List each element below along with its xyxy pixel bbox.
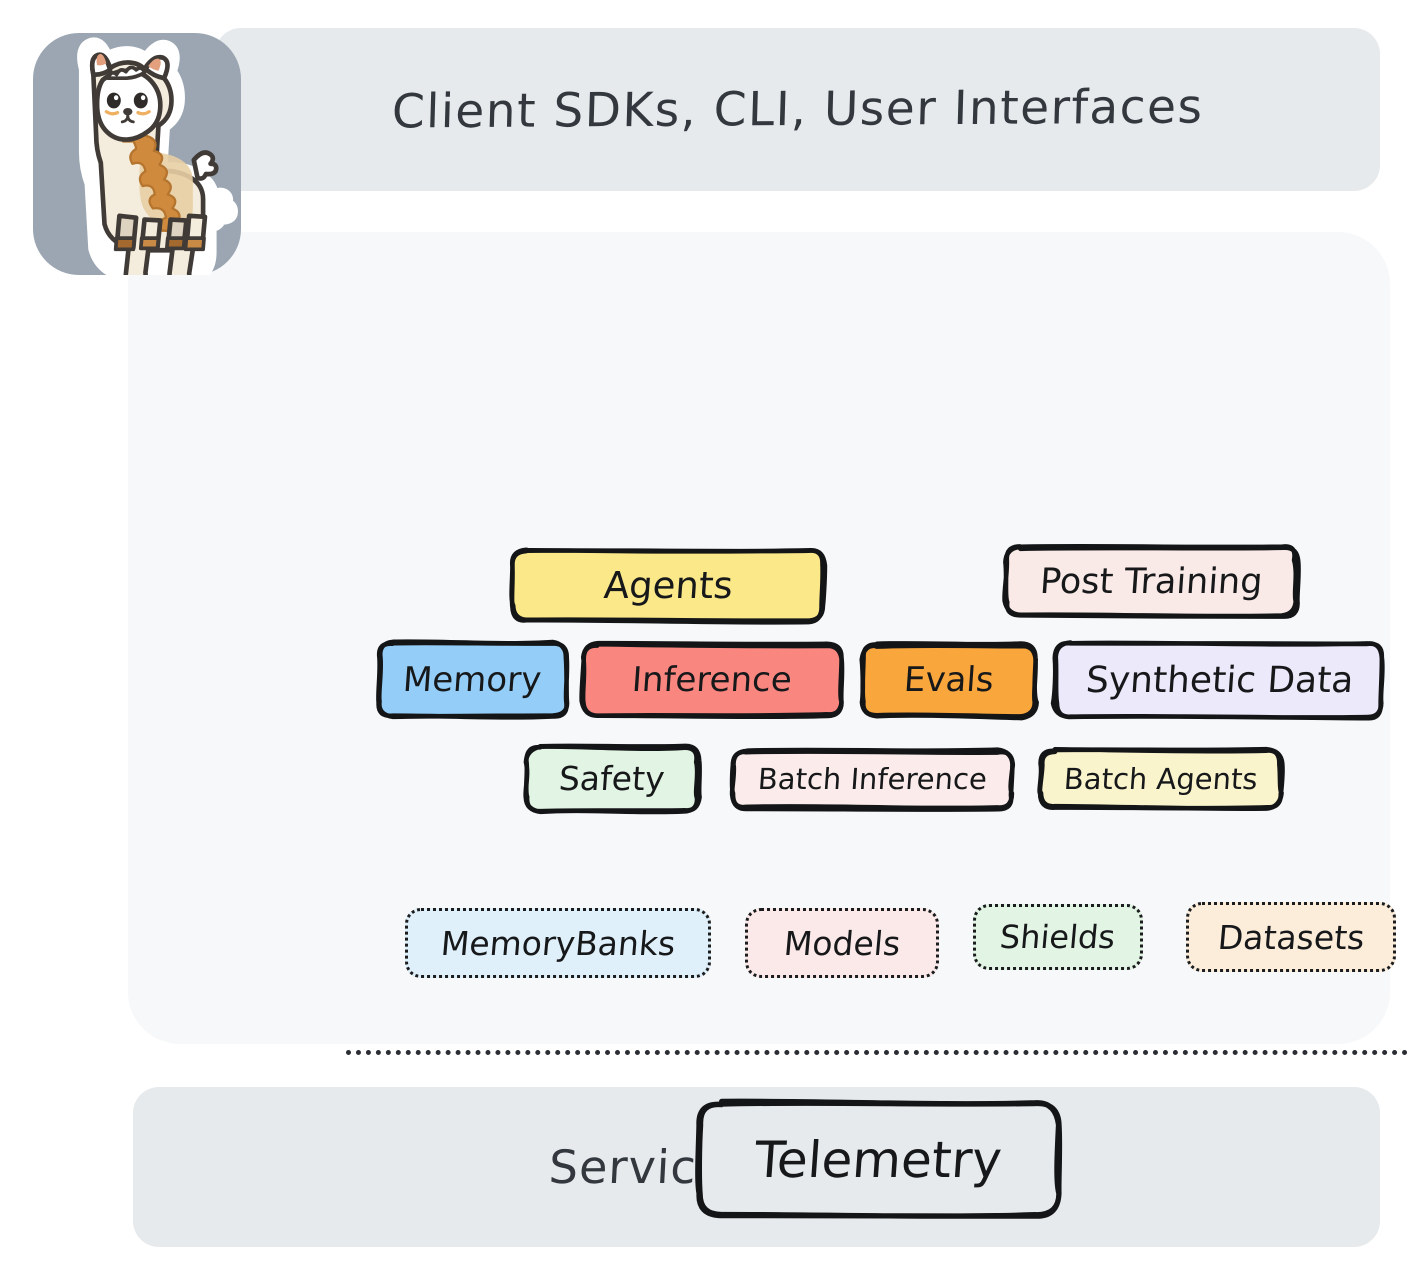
resource-box-models-label: Models — [782, 924, 902, 963]
client-interfaces-banner: Client SDKs, CLI, User Interfaces — [215, 28, 1380, 191]
llama-logo-tile — [33, 33, 241, 275]
resource-box-datasets[interactable]: Datasets — [1186, 902, 1396, 972]
banner-title: Client SDKs, CLI, User Interfaces — [391, 80, 1204, 140]
llama-icon — [33, 33, 241, 275]
resource-box-shields[interactable]: Shields — [973, 904, 1143, 970]
api-box-synthetic-data[interactable]: Synthetic Data — [1056, 644, 1383, 716]
api-box-memory-label: Memory — [401, 660, 542, 700]
api-box-safety[interactable]: Safety — [526, 747, 698, 810]
telemetry-box-label: Telemetry — [753, 1131, 1004, 1189]
api-box-memory[interactable]: Memory — [378, 644, 566, 716]
api-box-post-training[interactable]: Post Training — [1006, 547, 1297, 616]
api-box-batch-inference-label: Batch Inference — [756, 762, 987, 796]
telemetry-box[interactable]: Telemetry — [698, 1104, 1058, 1216]
api-box-evals[interactable]: Evals — [863, 644, 1035, 716]
api-box-agents[interactable]: Agents — [513, 550, 823, 620]
api-box-batch-agents-label: Batch Agents — [1063, 762, 1259, 796]
resource-box-datasets-label: Datasets — [1216, 918, 1366, 957]
api-box-batch-inference[interactable]: Batch Inference — [733, 750, 1011, 808]
resource-box-memorybanks-label: MemoryBanks — [439, 924, 677, 963]
resource-box-memorybanks[interactable]: MemoryBanks — [405, 908, 711, 978]
resource-box-shields-label: Shields — [999, 918, 1117, 956]
section-divider — [346, 1050, 1410, 1055]
api-box-synthetic-data-label: Synthetic Data — [1084, 660, 1354, 701]
api-box-evals-label: Evals — [903, 660, 995, 700]
api-box-post-training-label: Post Training — [1039, 562, 1264, 602]
api-box-safety-label: Safety — [558, 759, 666, 798]
api-box-agents-label: Agents — [602, 564, 734, 607]
api-box-inference[interactable]: Inference — [583, 644, 841, 716]
api-box-inference-label: Inference — [631, 660, 794, 700]
resource-box-models[interactable]: Models — [745, 908, 939, 978]
api-box-batch-agents[interactable]: Batch Agents — [1041, 750, 1281, 808]
api-panel: AgentsPost TrainingMemoryInferenceEvalsS… — [128, 232, 1390, 1044]
